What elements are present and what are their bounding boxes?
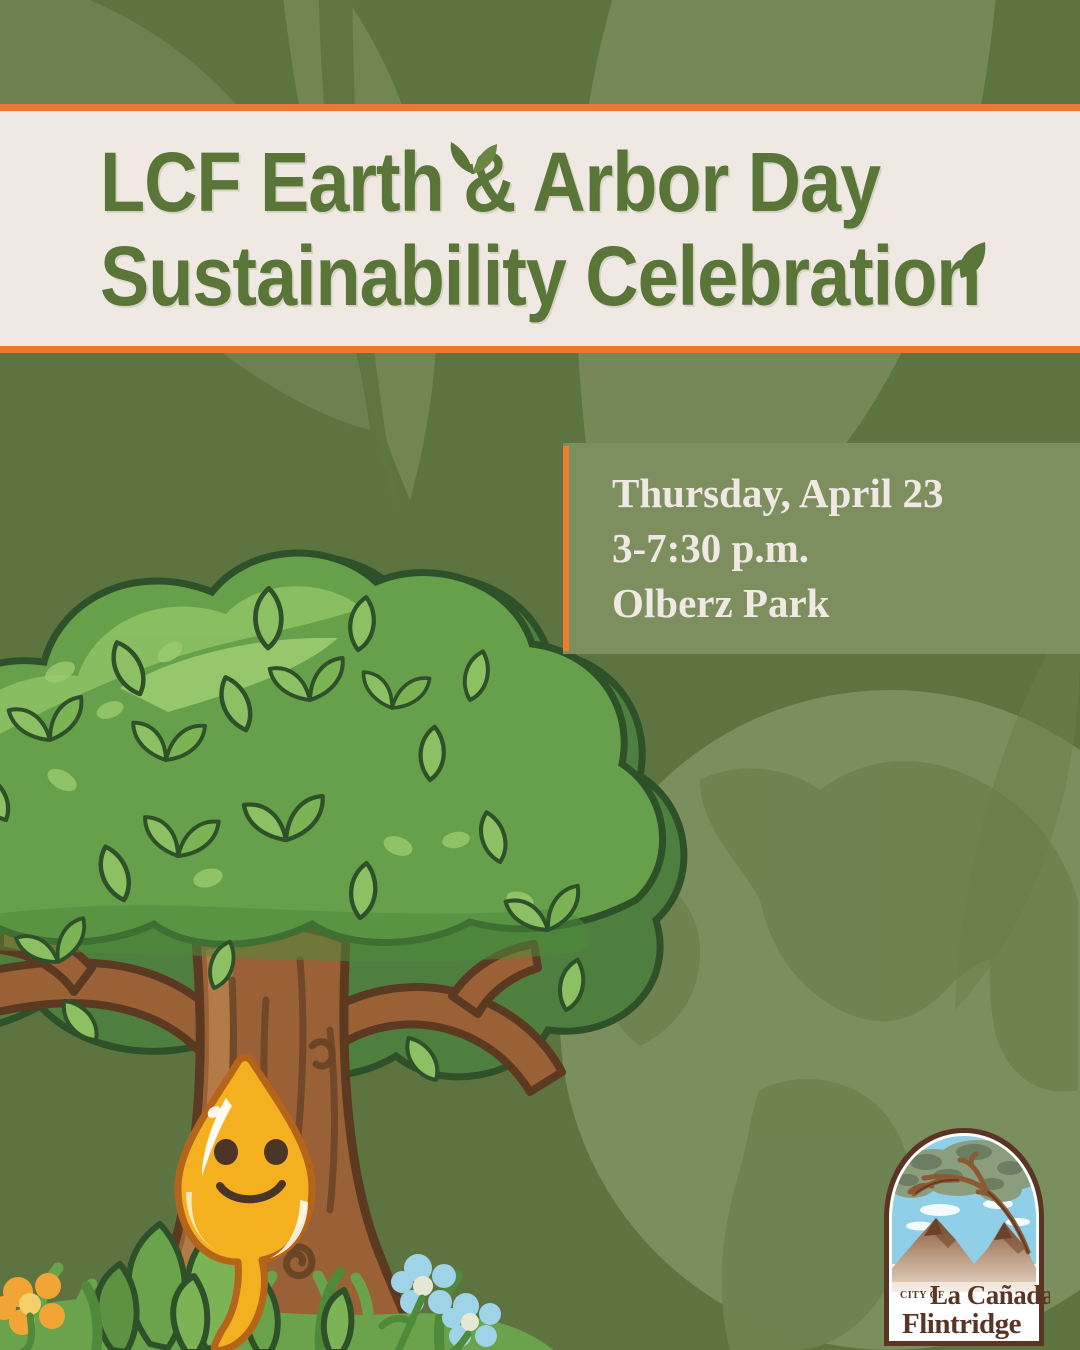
title-line-1: LCF Earth & Arbor Day (100, 135, 927, 229)
logo-name-line2: Flintridge (902, 1308, 1022, 1340)
event-details-text: Thursday, April 23 3-7:30 p.m. Olberz Pa… (612, 466, 1072, 631)
logo-name-line1: La Cañada (930, 1280, 1050, 1310)
poster-canvas: LCF Earth & Arbor Day Sustainability Cel… (0, 0, 1080, 1350)
panel-accent-bar (563, 446, 569, 651)
city-logo: CITY OF La Cañada Flintridge (878, 1122, 1050, 1350)
page-title: LCF Earth & Arbor Day Sustainability Cel… (100, 135, 1040, 323)
event-time: 3-7:30 p.m. (612, 521, 1072, 576)
event-location: Olberz Park (612, 576, 1072, 631)
title-line-2: Sustainability Celebration (100, 229, 927, 323)
event-date: Thursday, April 23 (612, 466, 1072, 521)
